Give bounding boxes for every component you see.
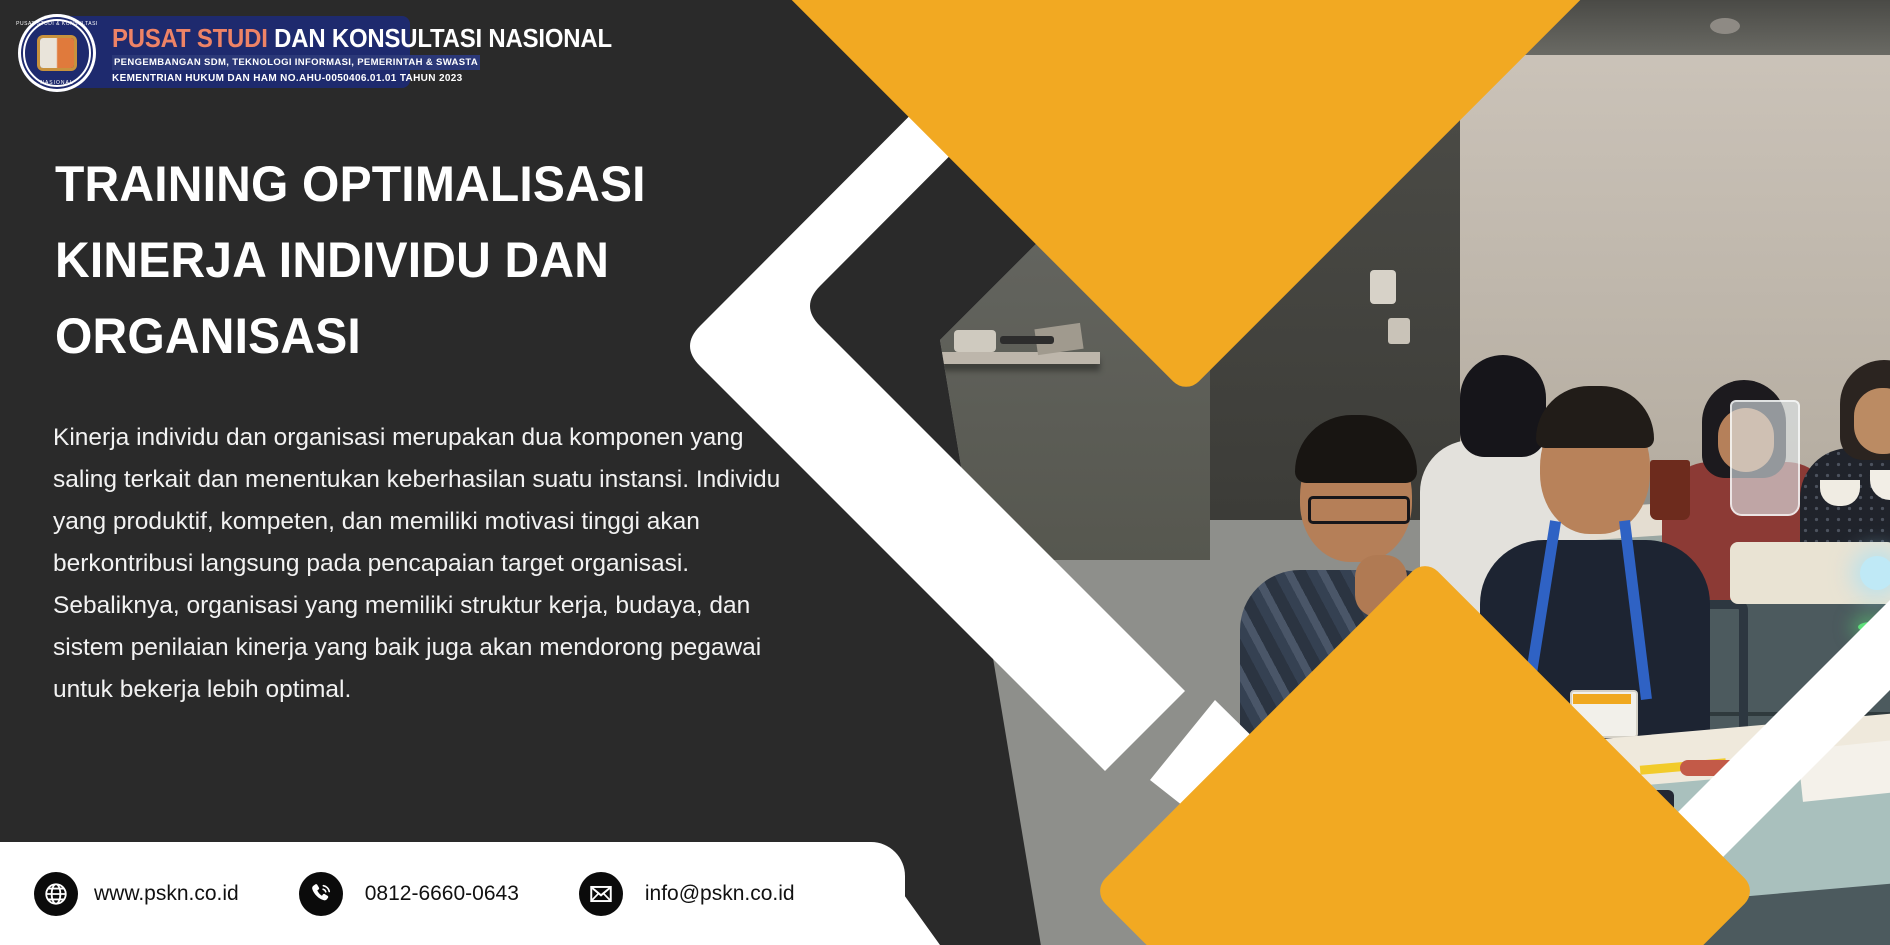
contact-footer-bar: www.pskn.co.id 0812-6660-0643 info@p (0, 842, 905, 945)
contact-phone[interactable]: 0812-6660-0643 (299, 872, 519, 916)
seal-top-text: PUSAT STUDI & KONSULTASI (16, 21, 98, 27)
brand-legal-registration: KEMENTRIAN HUKUM DAN HAM NO.AHU-0050406.… (112, 73, 655, 84)
phone-text: 0812-6660-0643 (365, 882, 519, 906)
seal-bottom-text: NASIONAL (40, 80, 73, 86)
book-shield-icon (40, 38, 74, 68)
email-icon (579, 872, 623, 916)
brand-text-block: PUSAT STUDI DAN KONSULTASI NASIONAL PENG… (112, 25, 655, 84)
brand-name-part2: DAN KONSULTASI NASIONAL (274, 23, 612, 53)
page-title: TRAINING OPTIMALISASI KINERJA INDIVIDU D… (55, 146, 785, 374)
contact-email[interactable]: info@pskn.co.id (579, 872, 795, 916)
phone-icon (299, 872, 343, 916)
brand-name: PUSAT STUDI DAN KONSULTASI NASIONAL (112, 25, 612, 51)
training-promo-poster: PUSAT STUDI & KONSULTASI NASIONAL PUSAT … (0, 0, 1890, 945)
contact-website[interactable]: www.pskn.co.id (34, 872, 239, 916)
headline-line-1: TRAINING OPTIMALISASI (55, 146, 785, 222)
email-text: info@pskn.co.id (645, 882, 795, 906)
headline-line-3: ORGANISASI (55, 298, 785, 374)
globe-icon (34, 872, 78, 916)
headline-line-2: KINERJA INDIVIDU DAN (55, 222, 785, 298)
body-paragraph: Kinerja individu dan organisasi merupaka… (53, 417, 793, 712)
brand-tagline: PENGEMBANGAN SDM, TEKNOLOGI INFORMASI, P… (112, 55, 480, 70)
website-text: www.pskn.co.id (94, 882, 239, 906)
brand-lockup: PUSAT STUDI & KONSULTASI NASIONAL PUSAT … (8, 4, 655, 96)
pskn-seal-logo: PUSAT STUDI & KONSULTASI NASIONAL (18, 14, 96, 92)
ceiling-vent-icon (1710, 18, 1740, 34)
brand-name-part1: PUSAT STUDI (112, 23, 268, 53)
